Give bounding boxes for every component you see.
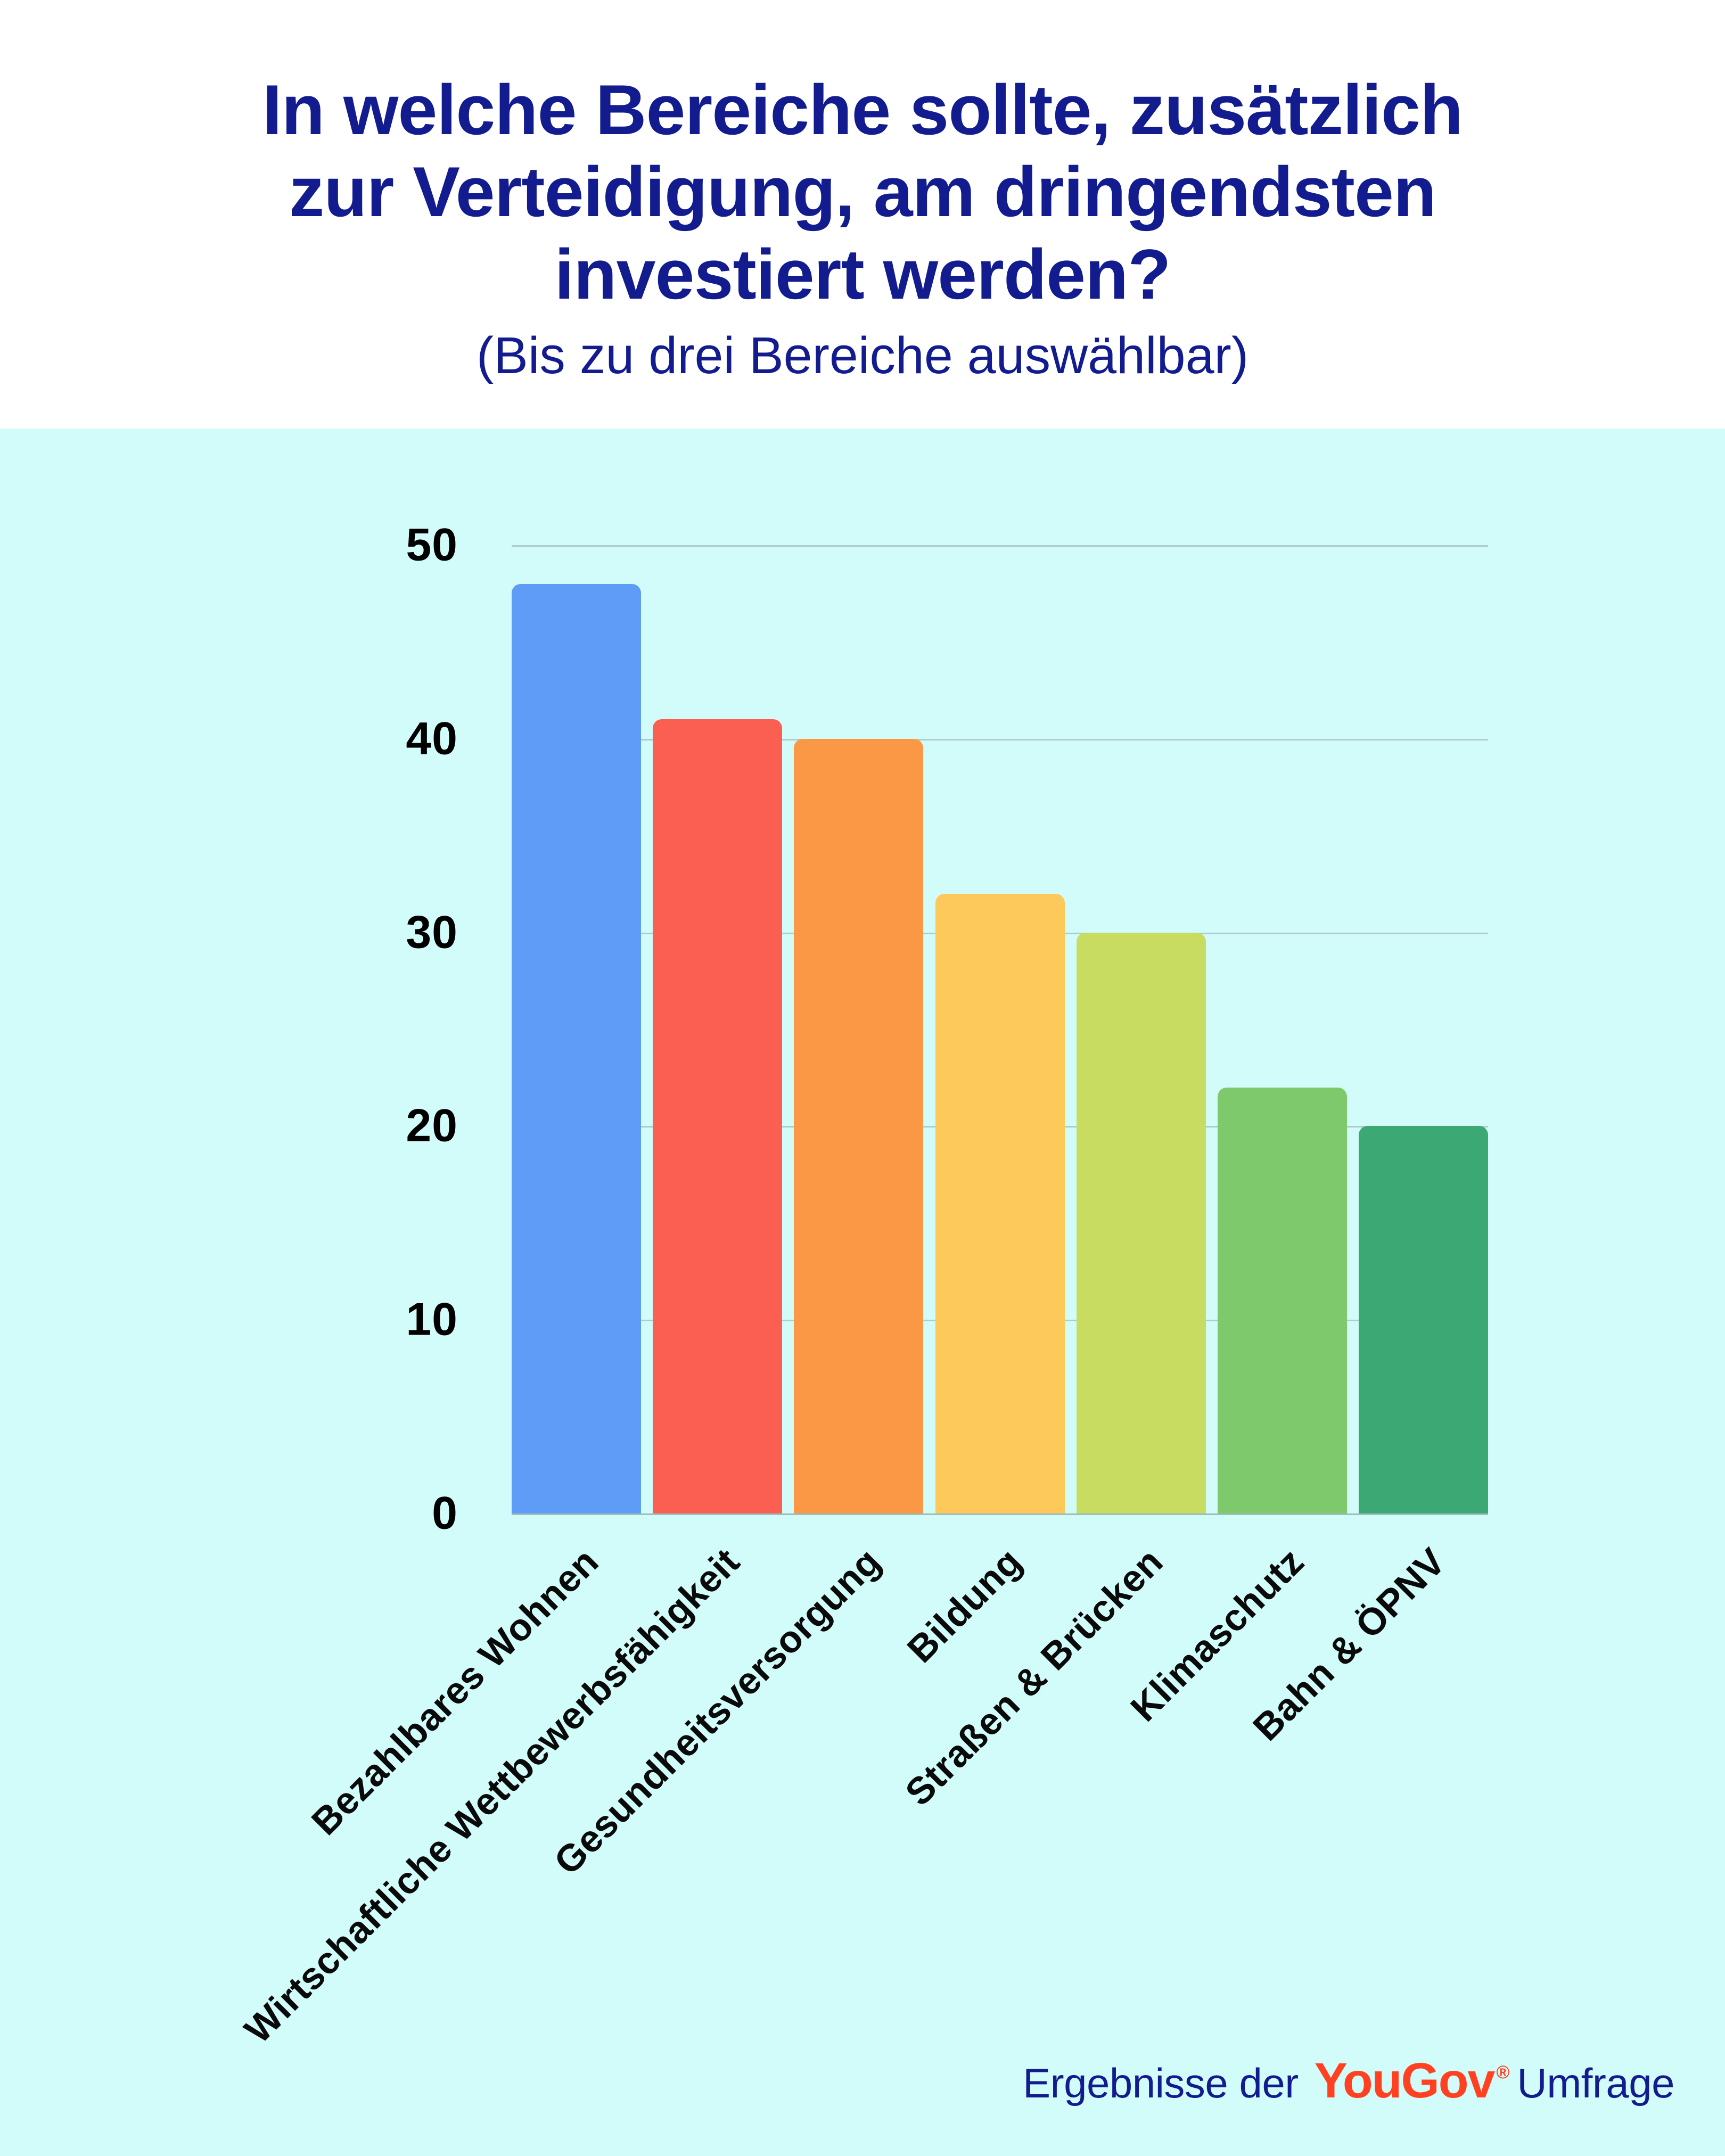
x-axis-tick-label: Bildung bbox=[899, 1540, 1031, 1672]
page-title: In welche Bereiche sollte, zusätzlich zu… bbox=[245, 69, 1480, 316]
x-axis-tick-label: Bezahlbares Wohnen bbox=[303, 1540, 606, 1844]
bar[interactable] bbox=[1077, 933, 1206, 1513]
x-axis-labels: Bezahlbares WohnenWirtschaftliche Wettbe… bbox=[512, 1525, 1488, 2004]
chart-panel: 01020304050 Bezahlbares WohnenWirtschaft… bbox=[0, 429, 1725, 2156]
x-axis-tick: Klimaschutz bbox=[1218, 1525, 1347, 1546]
x-axis-tick: Wirtschaftliche Wettbewerbsfähigkeit bbox=[653, 1525, 782, 1546]
axis-baseline bbox=[512, 1513, 1488, 1515]
y-axis-tick-label: 40 bbox=[298, 712, 458, 765]
bar[interactable] bbox=[1359, 1126, 1488, 1513]
bar[interactable] bbox=[512, 584, 641, 1513]
x-axis-tick: Bildung bbox=[935, 1525, 1065, 1546]
registered-mark-icon: ® bbox=[1496, 2062, 1509, 2083]
x-axis-tick: Bezahlbares Wohnen bbox=[512, 1525, 641, 1546]
y-axis-tick-label: 50 bbox=[298, 519, 458, 572]
x-axis-tick: Gesundheitsversorgung bbox=[794, 1525, 923, 1546]
footer-prefix: Ergebnisse der bbox=[1023, 2059, 1299, 2108]
x-axis-tick: Bahn & ÖPNV bbox=[1359, 1525, 1488, 1546]
y-axis-tick-label: 10 bbox=[298, 1294, 458, 1346]
x-axis-tick-label: Straßen & Brücken bbox=[897, 1540, 1171, 1814]
bar-series bbox=[512, 545, 1488, 1513]
yougov-logo: YouGov bbox=[1315, 2052, 1494, 2109]
page-subtitle: (Bis zu drei Bereiche auswählbar) bbox=[477, 327, 1248, 384]
y-axis-tick-label: 20 bbox=[298, 1100, 458, 1153]
plot-area bbox=[512, 545, 1488, 1513]
header: In welche Bereiche sollte, zusätzlich zu… bbox=[0, 0, 1725, 429]
footer-attribution: Ergebnisse der YouGov ® Umfrage bbox=[1023, 2052, 1674, 2109]
y-axis-tick-label: 30 bbox=[298, 906, 458, 959]
bar[interactable] bbox=[935, 894, 1065, 1513]
bar[interactable] bbox=[1218, 1088, 1347, 1513]
bar[interactable] bbox=[794, 739, 923, 1513]
bar[interactable] bbox=[653, 719, 782, 1513]
x-axis-tick-label: Wirtschaftliche Wettbewerbsfähigkeit bbox=[236, 1540, 748, 2052]
x-axis-tick: Straßen & Brücken bbox=[1077, 1525, 1206, 1546]
y-axis-tick-label: 0 bbox=[298, 1487, 458, 1540]
footer-suffix: Umfrage bbox=[1517, 2059, 1674, 2108]
